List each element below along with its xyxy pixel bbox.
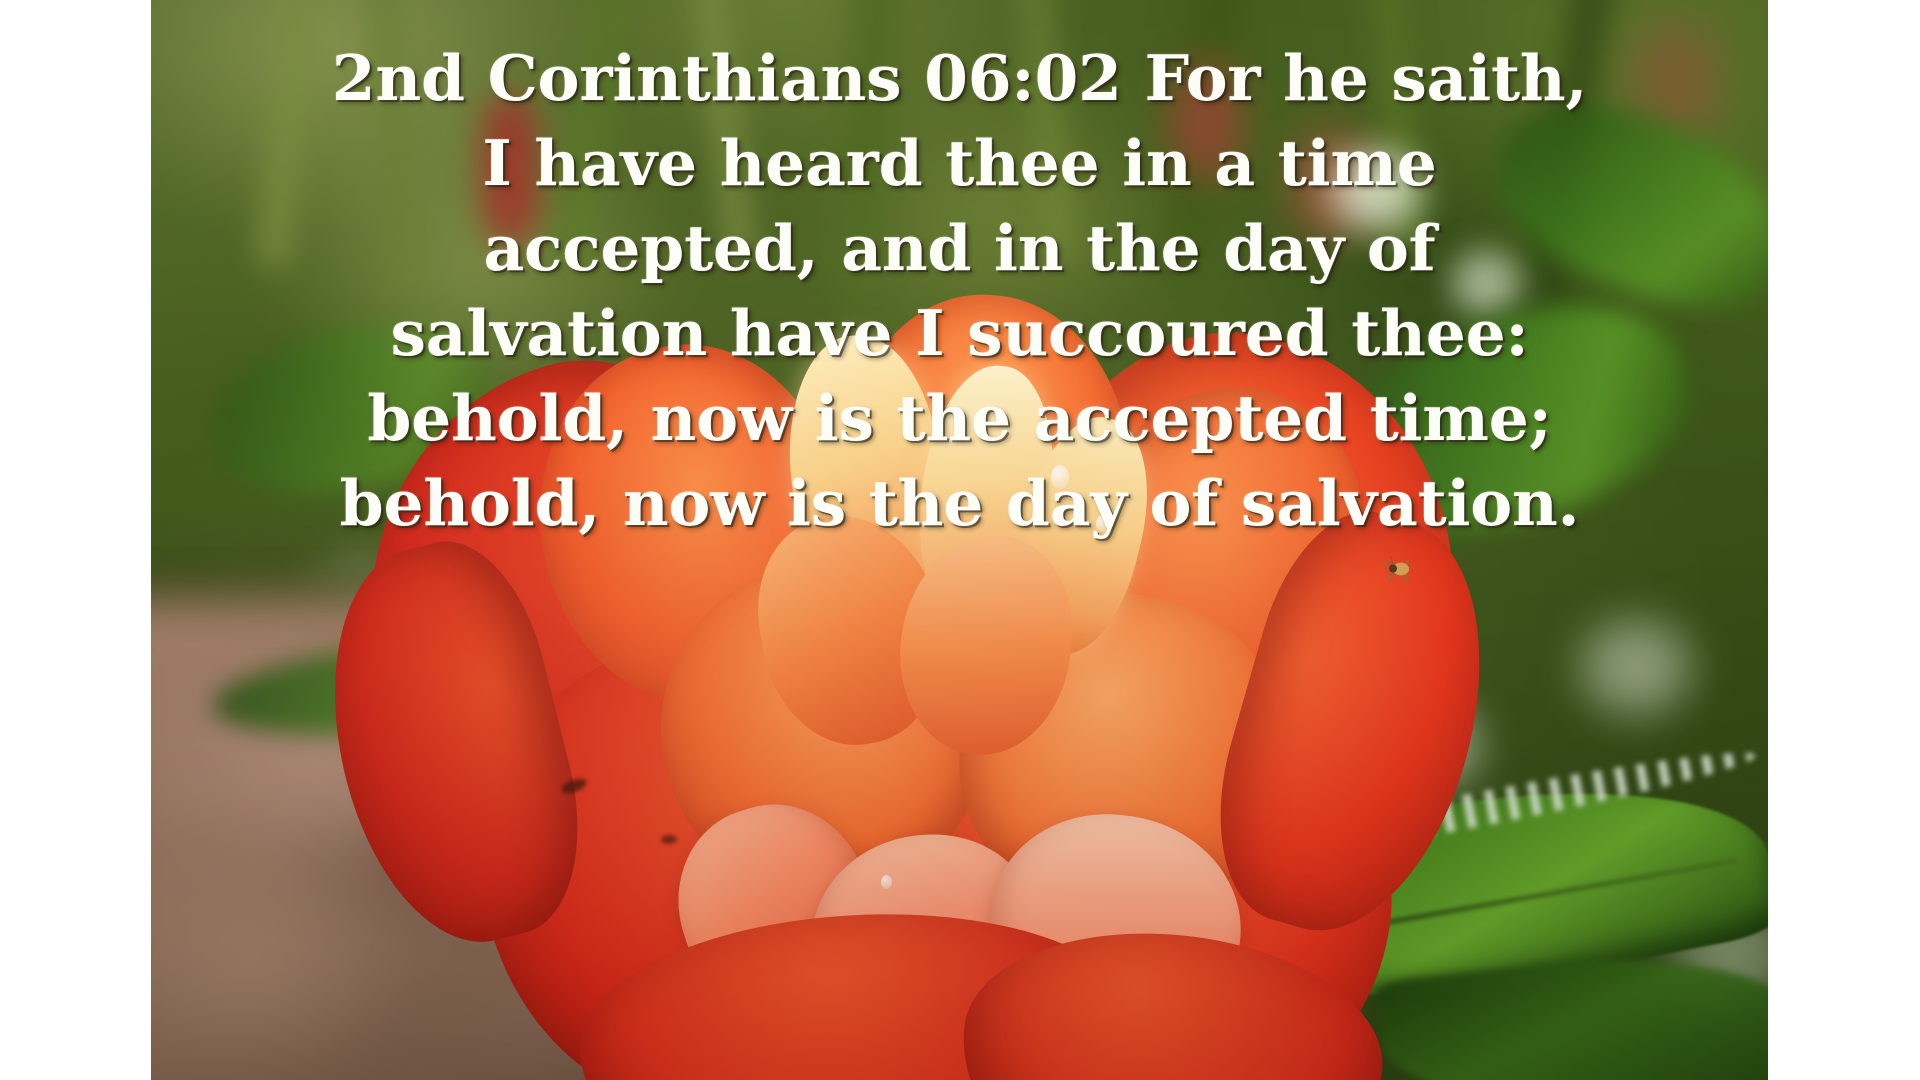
- dew-drop: [1096, 515, 1109, 532]
- petal-blemish: [661, 835, 677, 844]
- image-canvas: 2nd Corinthians 06:02 For he saith, I ha…: [0, 0, 1920, 1080]
- dew-drop: [881, 875, 892, 889]
- rose-photograph: [151, 0, 1768, 1080]
- spider-icon: [1375, 552, 1417, 586]
- rose-bloom: [361, 215, 1441, 1080]
- bokeh-highlight: [1581, 620, 1691, 715]
- background-rosebud: [1171, 60, 1241, 180]
- bokeh-highlight: [1451, 250, 1521, 316]
- dew-drop: [1051, 465, 1069, 489]
